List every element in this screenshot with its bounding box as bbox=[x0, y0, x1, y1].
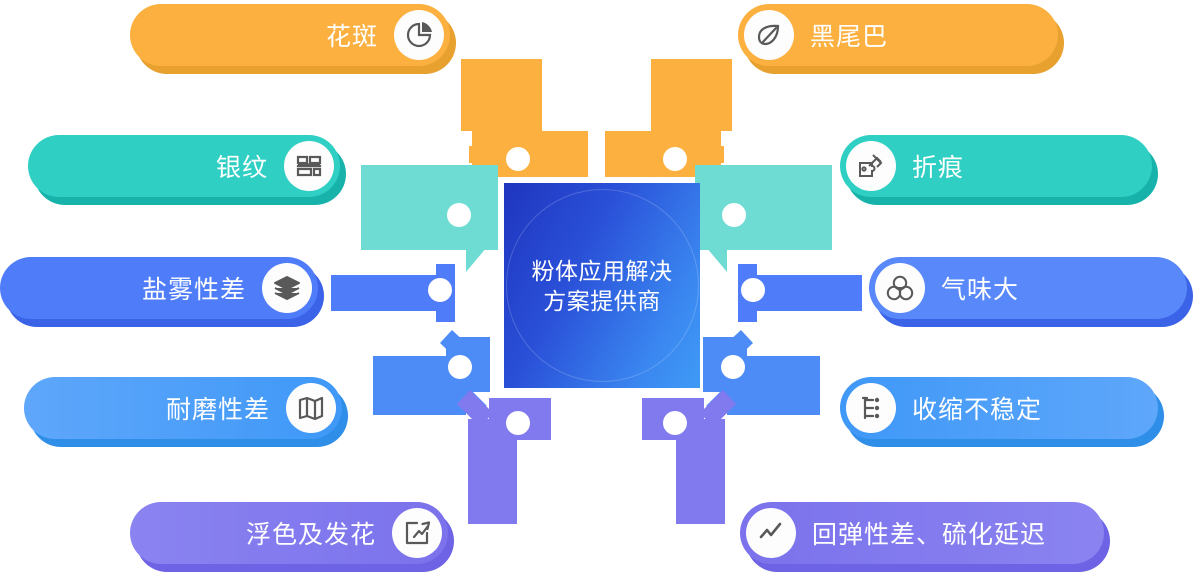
sitemap-icon bbox=[846, 383, 896, 433]
infographic-canvas: 粉体应用解决 方案提供商 花斑 黑尾巴 bbox=[0, 0, 1193, 577]
label-pill-naimoxingcha[interactable]: 耐磨性差 bbox=[24, 377, 342, 439]
open-book-icon bbox=[286, 383, 336, 433]
label-text: 盐雾性差 bbox=[142, 270, 246, 306]
line-chart-circle-icon bbox=[746, 508, 796, 558]
layers-icon bbox=[262, 263, 312, 313]
leaf-icon bbox=[744, 10, 794, 60]
label-text: 银纹 bbox=[216, 148, 268, 184]
label-pill-huitanxingcha[interactable]: 回弹性差、硫化延迟 bbox=[740, 502, 1104, 564]
label-pill-yanwuxingcha[interactable]: 盐雾性差 bbox=[0, 257, 318, 319]
label-pill-fusejifahua[interactable]: 浮色及发花 bbox=[130, 502, 448, 564]
label-text: 气味大 bbox=[941, 270, 1019, 306]
label-text: 黑尾巴 bbox=[810, 17, 888, 53]
label-pill-qiweida[interactable]: 气味大 bbox=[869, 257, 1187, 319]
trending-up-box-icon bbox=[392, 508, 442, 558]
label-pill-yinwen[interactable]: 银纹 bbox=[28, 135, 340, 197]
label-text: 回弹性差、硫化延迟 bbox=[812, 515, 1046, 551]
pie-chart-icon bbox=[394, 10, 444, 60]
label-layer: 花斑 黑尾巴 银纹 bbox=[0, 0, 1193, 577]
label-pill-huaban[interactable]: 花斑 bbox=[130, 4, 450, 66]
label-text: 耐磨性差 bbox=[166, 390, 270, 426]
label-text: 折痕 bbox=[912, 148, 964, 184]
puzzle-piece-icon bbox=[846, 141, 896, 191]
label-text: 收缩不稳定 bbox=[912, 390, 1042, 426]
label-text: 浮色及发花 bbox=[246, 515, 376, 551]
label-pill-heiweiba[interactable]: 黑尾巴 bbox=[738, 4, 1058, 66]
recycle-icon bbox=[875, 263, 925, 313]
label-pill-shousuobuwending[interactable]: 收缩不稳定 bbox=[840, 377, 1158, 439]
label-pill-zhehen[interactable]: 折痕 bbox=[840, 135, 1152, 197]
brick-wall-icon bbox=[284, 141, 334, 191]
label-text: 花斑 bbox=[326, 17, 378, 53]
